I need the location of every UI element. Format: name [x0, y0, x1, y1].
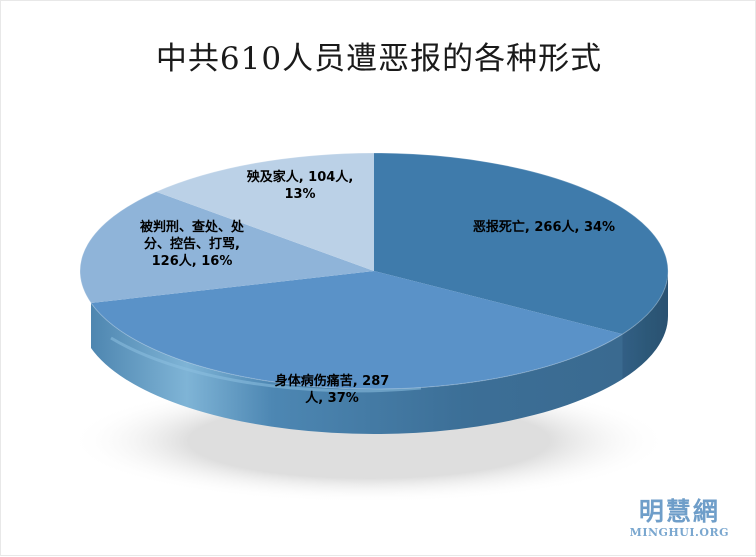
pie-chart: 恶报死亡, 266人, 34% 身体病伤痛苦, 287 人, 37% 被判刑、查… — [1, 1, 756, 557]
watermark-en-text: MINGHUI.ORG — [630, 526, 729, 539]
pie-label-death: 恶报死亡, 266人, 34% — [439, 219, 649, 236]
pie-label-legal: 被判刑、查处、处 分、控告、打骂, 126人, 16% — [97, 219, 287, 270]
pie-label-legal-line2: 分、控告、打骂, — [144, 237, 240, 252]
pie-label-family-line1: 殃及家人, 104人, — [247, 170, 354, 185]
watermark-cn-text: 明慧網 — [630, 498, 729, 526]
pie-label-family: 殃及家人, 104人, 13% — [207, 169, 393, 203]
pie-label-legal-line3: 126人, 16% — [152, 254, 233, 269]
pie-chart-graphic — [1, 1, 756, 557]
pie-label-legal-line1: 被判刑、查处、处 — [140, 220, 244, 235]
minghui-watermark: 明慧網 MINGHUI.ORG — [630, 498, 729, 539]
pie-label-illness-line1: 身体病伤痛苦, 287 — [275, 374, 390, 389]
pie-label-illness-line2: 人, 37% — [305, 391, 359, 406]
pie-label-death-text: 恶报死亡, 266人, 34% — [473, 220, 615, 235]
pie-label-family-line2: 13% — [284, 187, 315, 202]
slide-canvas: 中共610人员遭恶报的各种形式 — [0, 0, 756, 556]
pie-label-illness: 身体病伤痛苦, 287 人, 37% — [229, 373, 435, 407]
